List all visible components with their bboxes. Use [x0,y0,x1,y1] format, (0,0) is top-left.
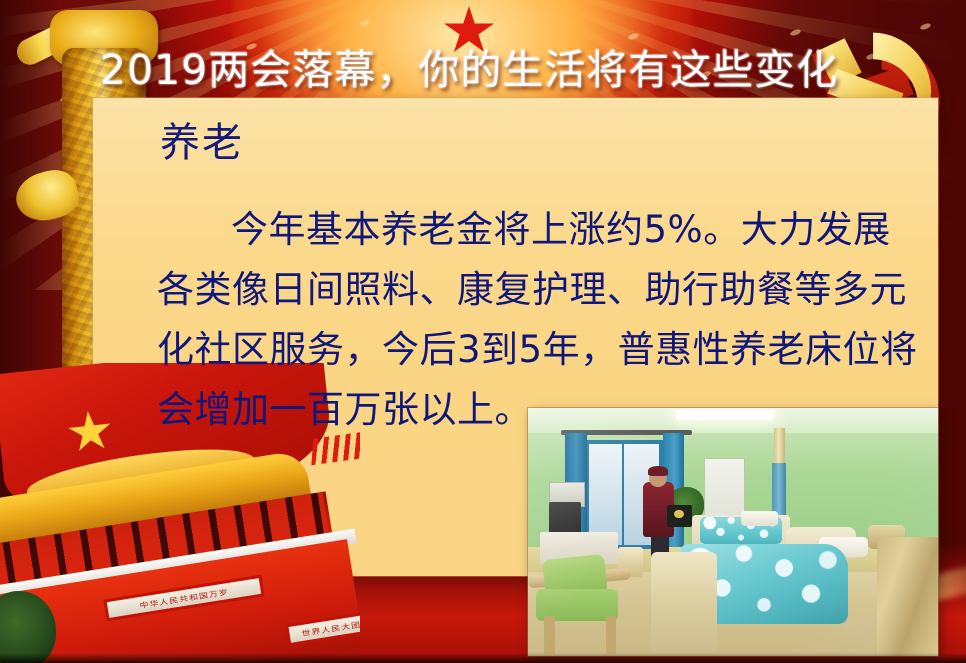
body-line-3: 化社区服务，今后3到5年，普惠性养老床位将 [157,320,897,380]
section-heading: 养老 [160,121,244,165]
slide-title: 2019两会落幕，你的生活将有这些变化 [100,50,800,91]
bottom-edge-shadow [0,653,966,663]
body-line-1: 今年基本养老金将上涨约5%。大力发展 [157,200,897,260]
elderly-care-room-photo [528,408,938,656]
presentation-slide: 中华人民共和国万岁 世界人民大团结万岁 2019两会落幕，你的生活将有这些变化 … [0,0,966,663]
body-text: 今年基本养老金将上涨约5%。大力发展 各类像日间照料、康复护理、助行助餐等多元 … [157,200,897,440]
body-line-2: 各类像日间照料、康复护理、助行助餐等多元 [157,260,897,320]
